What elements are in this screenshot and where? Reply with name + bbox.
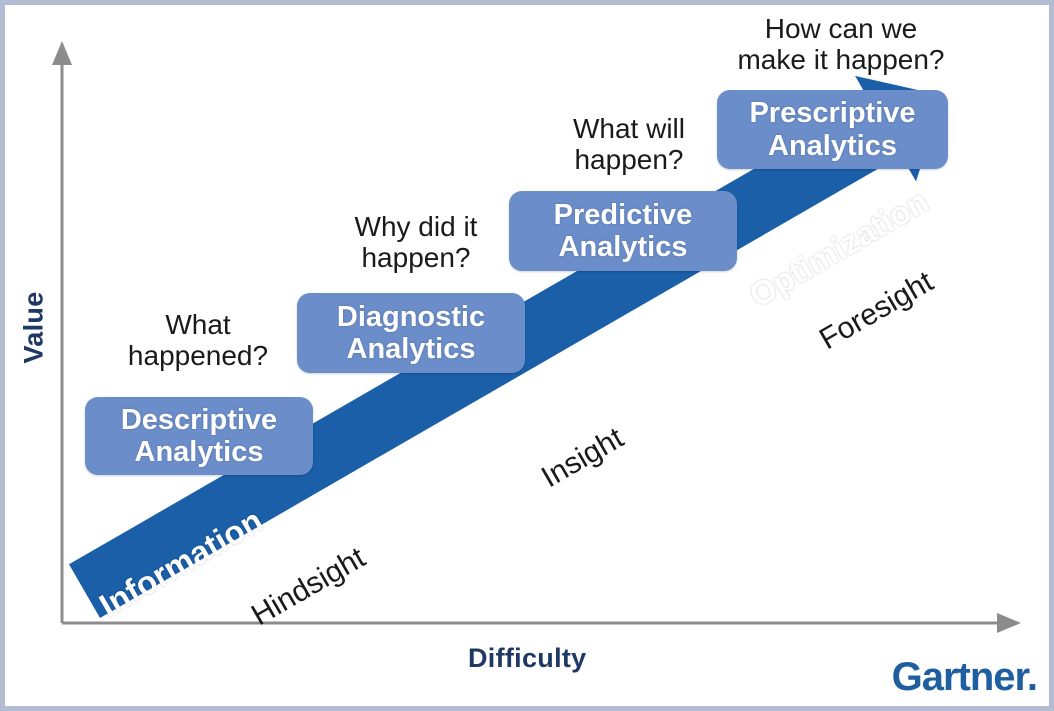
question-descriptive: What happened? [108,309,288,372]
phase-label-information: Information [93,501,269,625]
y-axis-arrowhead-icon [52,41,72,65]
stage-box-prescriptive[interactable]: Prescriptive Analytics [717,90,948,169]
y-axis-title: Value [19,291,50,363]
gartner-logo: Gartner. [892,655,1037,700]
question-predictive: What will happen? [539,113,719,176]
stage-box-predictive[interactable]: Predictive Analytics [509,191,737,271]
question-diagnostic: Why did it happen? [321,211,511,274]
x-axis-arrowhead-icon [997,613,1021,633]
sight-label-hindsight: Hindsight [246,541,371,633]
stage-box-descriptive[interactable]: Descriptive Analytics [85,397,313,475]
stage-box-diagnostic[interactable]: Diagnostic Analytics [297,293,525,373]
diagram-canvas: Information Optimization Hindsight Insig… [0,0,1054,711]
question-prescriptive: How can we make it happen? [721,13,961,76]
x-axis-title: Difficulty [468,643,587,674]
sight-label-foresight: Foresight [814,265,939,357]
sight-label-insight: Insight [536,421,630,495]
